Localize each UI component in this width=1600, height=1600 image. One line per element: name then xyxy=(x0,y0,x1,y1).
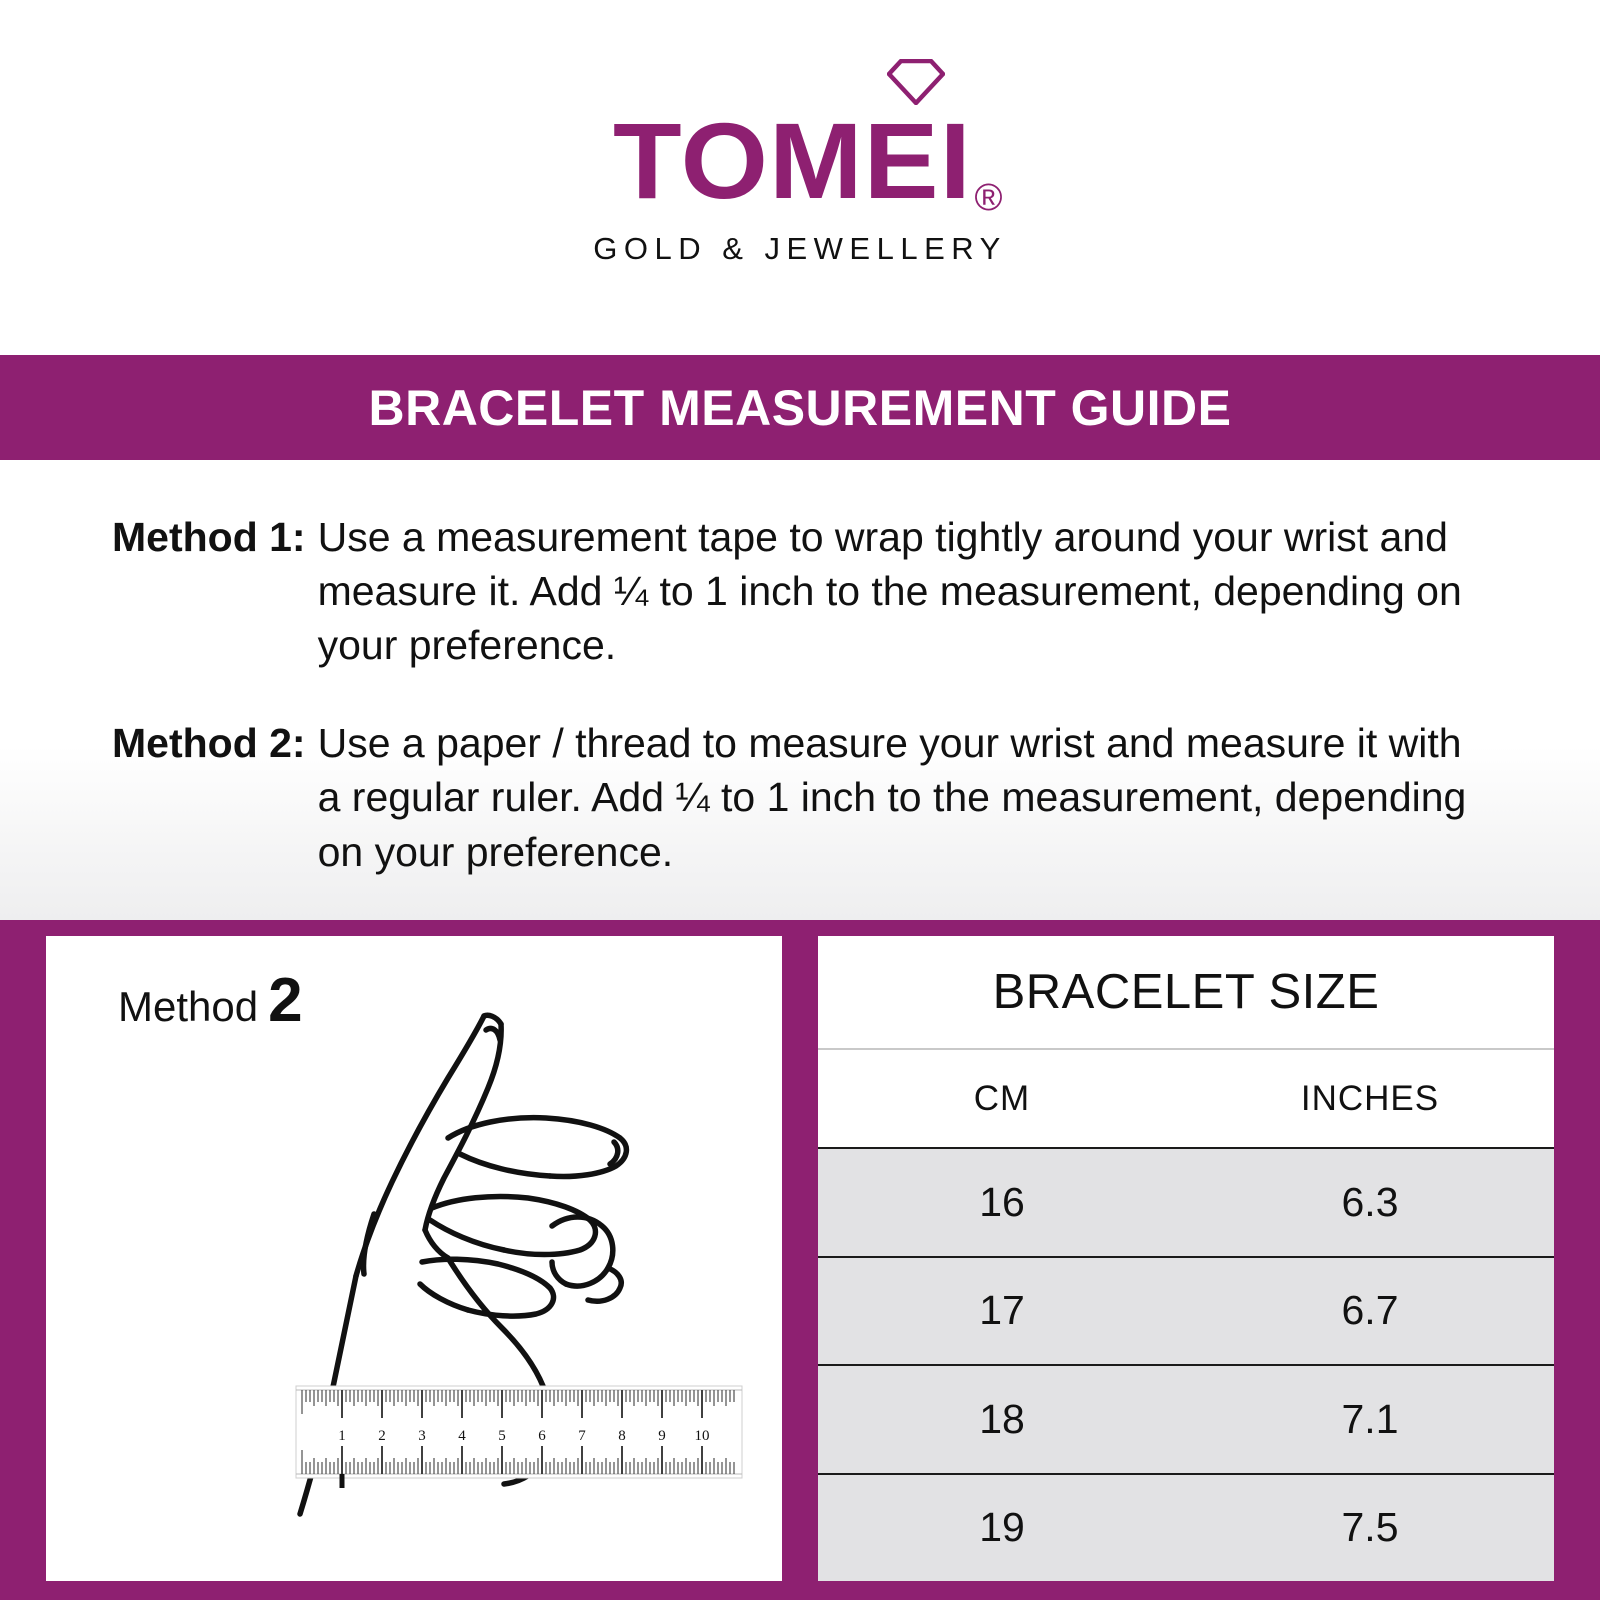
size-table-header-row: CM INCHES xyxy=(818,1050,1554,1147)
bottom-panel: Method 2 xyxy=(0,920,1600,1600)
page-title: BRACELET MEASUREMENT GUIDE xyxy=(368,379,1231,437)
cell-inches: 7.5 xyxy=(1186,1475,1554,1582)
size-table-card: BRACELET SIZE CM INCHES 16 6.3 17 6.7 18… xyxy=(818,936,1554,1581)
svg-text:10: 10 xyxy=(695,1428,710,1444)
logo-tagline: GOLD & JEWELLERY xyxy=(593,231,1007,267)
size-table-title: BRACELET SIZE xyxy=(818,936,1554,1050)
svg-text:2: 2 xyxy=(378,1428,386,1444)
logo: TOMEI® GOLD & JEWELLERY xyxy=(593,107,1007,267)
table-row: 17 6.7 xyxy=(818,1256,1554,1365)
cell-cm: 19 xyxy=(818,1475,1186,1582)
logo-wordmark-row: TOMEI® xyxy=(613,107,986,215)
registered-trademark-icon: ® xyxy=(975,177,1003,219)
ruler-icon: 1 2 3 4 5 6 7 8 9 10 xyxy=(294,1378,744,1488)
cell-cm: 18 xyxy=(818,1366,1186,1473)
svg-text:8: 8 xyxy=(618,1428,626,1444)
method-2-block: Method 2: Use a paper / thread to measur… xyxy=(112,716,1512,878)
column-header-inches: INCHES xyxy=(1186,1050,1554,1147)
method-1-text: Use a measurement tape to wrap tightly a… xyxy=(318,510,1493,672)
table-row: 16 6.3 xyxy=(818,1147,1554,1256)
svg-text:7: 7 xyxy=(578,1428,586,1444)
page-title-bar: BRACELET MEASUREMENT GUIDE xyxy=(0,355,1600,460)
svg-text:6: 6 xyxy=(538,1428,546,1444)
column-header-cm: CM xyxy=(818,1050,1186,1147)
table-row: 18 7.1 xyxy=(818,1364,1554,1473)
method-1-block: Method 1: Use a measurement tape to wrap… xyxy=(112,510,1512,672)
logo-wordmark: TOMEI xyxy=(613,107,972,215)
svg-text:4: 4 xyxy=(458,1428,466,1444)
brand-header: TOMEI® GOLD & JEWELLERY xyxy=(0,0,1600,355)
table-row: 19 7.5 xyxy=(818,1473,1554,1582)
cards-container: Method 2 xyxy=(46,936,1554,1581)
cell-inches: 6.7 xyxy=(1186,1258,1554,1365)
cell-cm: 16 xyxy=(818,1149,1186,1256)
cell-inches: 7.1 xyxy=(1186,1366,1554,1473)
svg-text:3: 3 xyxy=(418,1428,426,1444)
cell-inches: 6.3 xyxy=(1186,1149,1554,1256)
svg-text:1: 1 xyxy=(338,1428,346,1444)
method-2-label: Method 2: xyxy=(112,716,318,878)
illustration-card: Method 2 xyxy=(46,936,782,1581)
methods-section: Method 1: Use a measurement tape to wrap… xyxy=(0,460,1600,921)
cell-cm: 17 xyxy=(818,1258,1186,1365)
svg-text:9: 9 xyxy=(658,1428,666,1444)
diamond-icon xyxy=(887,59,945,105)
method-1-label: Method 1: xyxy=(112,510,318,672)
method-2-text: Use a paper / thread to measure your wri… xyxy=(318,716,1493,878)
svg-text:5: 5 xyxy=(498,1428,506,1444)
